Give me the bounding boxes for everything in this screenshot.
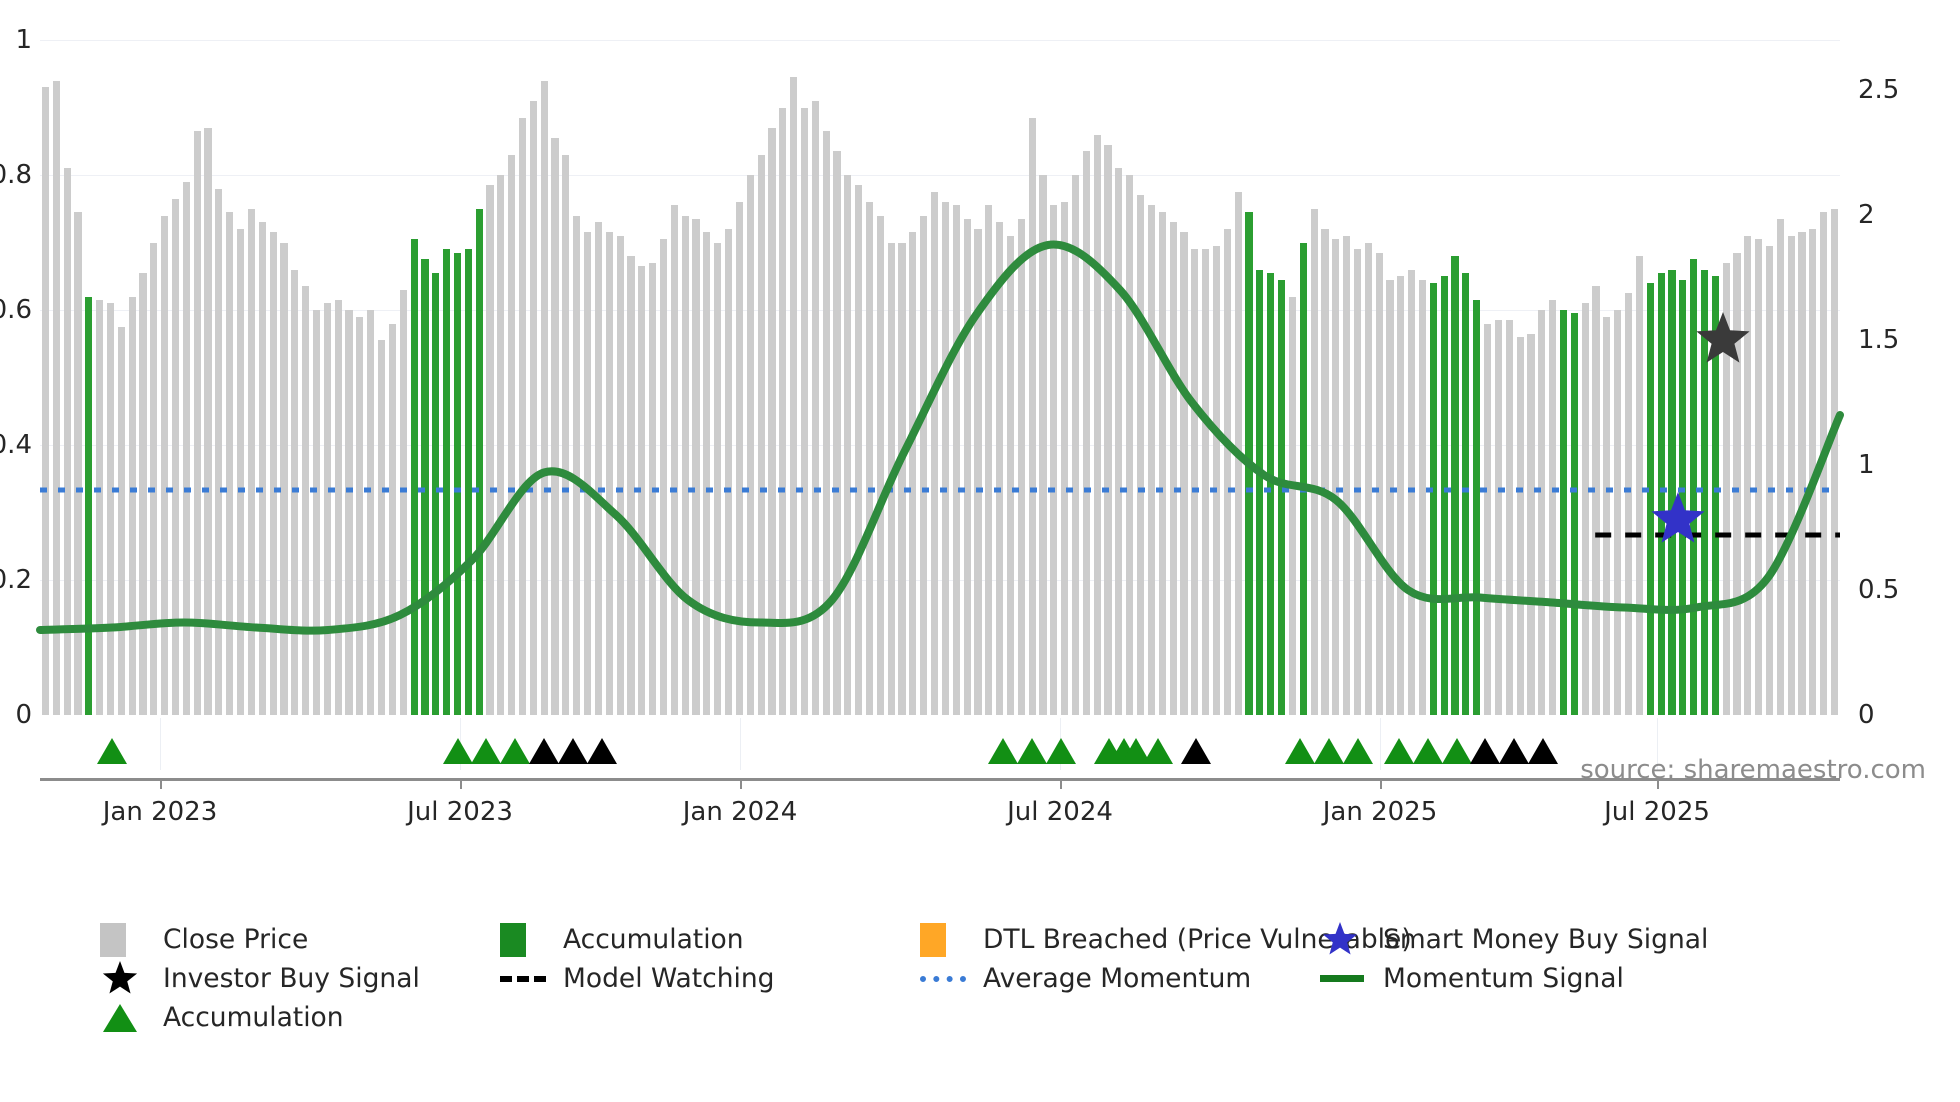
dashed-line-icon [500, 976, 546, 982]
star-icon [1320, 921, 1360, 959]
accumulation-triangle-marker [471, 738, 501, 764]
x-axis-tick-label: Jan 2024 [683, 797, 798, 827]
legend-label: Accumulation [163, 1002, 344, 1033]
accumulation-triangle-marker [1528, 738, 1558, 764]
accumulation-triangle-marker [1314, 738, 1344, 764]
legend-smart-money[interactable]: Smart Money Buy Signal [1320, 920, 1708, 959]
legend-label: Investor Buy Signal [163, 963, 420, 994]
accumulation-marker-band [40, 718, 1840, 770]
triangle-icon [100, 1001, 140, 1035]
square-swatch-icon [920, 923, 946, 957]
x-axis-tick-label: Jul 2023 [407, 797, 513, 827]
legend-marker-square [920, 923, 966, 957]
accumulation-triangle-marker [500, 738, 530, 764]
legend-label: Close Price [163, 924, 308, 955]
accumulation-triangle-marker [1470, 738, 1500, 764]
legend-label: Momentum Signal [1383, 963, 1624, 994]
chart-canvas: 00.20.40.60.81 00.511.522.5 Jan 2023Jul … [0, 0, 1960, 1102]
x-axis-tick [460, 778, 462, 789]
dotted-line-icon [920, 976, 966, 982]
x-axis-tick [1060, 778, 1062, 789]
legend-average-momentum[interactable]: Average Momentum [920, 959, 1251, 998]
y-axis-right-tick: 0.5 [1858, 575, 1899, 605]
y-axis-left-tick: 0 [0, 700, 32, 730]
legend-momentum-signal[interactable]: Momentum Signal [1320, 959, 1624, 998]
y-axis-left-tick: 0.2 [0, 565, 32, 595]
legend-accumulation-bar[interactable]: Accumulation [500, 920, 744, 959]
legend-row: Close PriceAccumulationDTL Breached (Pri… [100, 920, 1940, 959]
legend-row: Accumulation [100, 998, 1940, 1037]
accumulation-triangle-marker [1442, 738, 1472, 764]
legend-marker-star [100, 960, 146, 998]
y-axis-left-tick: 0.6 [0, 295, 32, 325]
x-axis-tick [740, 778, 742, 789]
plot-area: 00.20.40.60.81 00.511.522.5 [40, 40, 1840, 715]
legend-marker-solid-line [1320, 975, 1366, 982]
source-attribution: source: sharemaestro.com [1580, 755, 1926, 785]
x-tick-guide [160, 718, 161, 770]
legend-label: Smart Money Buy Signal [1383, 924, 1708, 955]
accumulation-triangle-marker [587, 738, 617, 764]
accumulation-triangle-marker [1181, 738, 1211, 764]
x-axis-tick-label: Jul 2025 [1604, 797, 1710, 827]
x-axis-tick [1380, 778, 1382, 789]
legend-marker-star [1320, 921, 1366, 959]
legend-accumulation-triangle[interactable]: Accumulation [100, 998, 344, 1037]
y-axis-left-tick: 0.8 [0, 160, 32, 190]
legend-label: Average Momentum [983, 963, 1251, 994]
legend-marker-square [100, 923, 146, 957]
accumulation-triangle-marker [1384, 738, 1414, 764]
legend-close-price[interactable]: Close Price [100, 920, 308, 959]
y-axis-right-tick: 0 [1858, 700, 1875, 730]
accumulation-triangle-marker [1413, 738, 1443, 764]
accumulation-triangle-marker [1343, 738, 1373, 764]
legend-marker-square [500, 923, 546, 957]
accumulation-triangle-marker [988, 738, 1018, 764]
investor-buy-signal-star [1696, 312, 1749, 363]
accumulation-triangle-marker [1285, 738, 1315, 764]
legend-row: Investor Buy SignalModel WatchingAverage… [100, 959, 1940, 998]
y-axis-right-tick: 1 [1858, 450, 1875, 480]
chart-legend: Close PriceAccumulationDTL Breached (Pri… [100, 920, 1940, 1037]
momentum-signal-line [40, 245, 1840, 631]
accumulation-triangle-marker [443, 738, 473, 764]
accumulation-triangle-marker [1017, 738, 1047, 764]
x-tick-guide [740, 718, 741, 770]
x-axis-tick-label: Jul 2024 [1007, 797, 1113, 827]
legend-investor-buy[interactable]: Investor Buy Signal [100, 959, 420, 998]
square-swatch-icon [100, 923, 126, 957]
accumulation-triangle-marker [529, 738, 559, 764]
square-swatch-icon [500, 923, 526, 957]
y-axis-right-tick: 2.5 [1858, 75, 1899, 105]
legend-label: Accumulation [563, 924, 744, 955]
legend-marker-dotted-line [920, 976, 966, 982]
y-axis-right-tick: 1.5 [1858, 325, 1899, 355]
x-axis-tick-label: Jan 2023 [103, 797, 218, 827]
legend-marker-dashed-line [500, 976, 546, 982]
legend-marker-triangle [100, 1001, 146, 1035]
x-tick-guide [1380, 718, 1381, 770]
accumulation-triangle-marker [97, 738, 127, 764]
plot-inner [40, 40, 1840, 715]
x-axis-line [40, 778, 1840, 781]
accumulation-triangle-marker [558, 738, 588, 764]
x-axis-tick [160, 778, 162, 789]
y-axis-left-tick: 1 [0, 25, 32, 55]
legend-model-watching[interactable]: Model Watching [500, 959, 774, 998]
solid-line-icon [1320, 975, 1364, 982]
accumulation-triangle-marker [1143, 738, 1173, 764]
accumulation-triangle-marker [1046, 738, 1076, 764]
star-icon [100, 960, 140, 998]
x-axis-tick-label: Jan 2025 [1323, 797, 1438, 827]
series-overlay [40, 40, 1840, 715]
accumulation-triangle-marker [1499, 738, 1529, 764]
y-axis-left-tick: 0.4 [0, 430, 32, 460]
legend-label: Model Watching [563, 963, 774, 994]
y-axis-right-tick: 2 [1858, 200, 1875, 230]
